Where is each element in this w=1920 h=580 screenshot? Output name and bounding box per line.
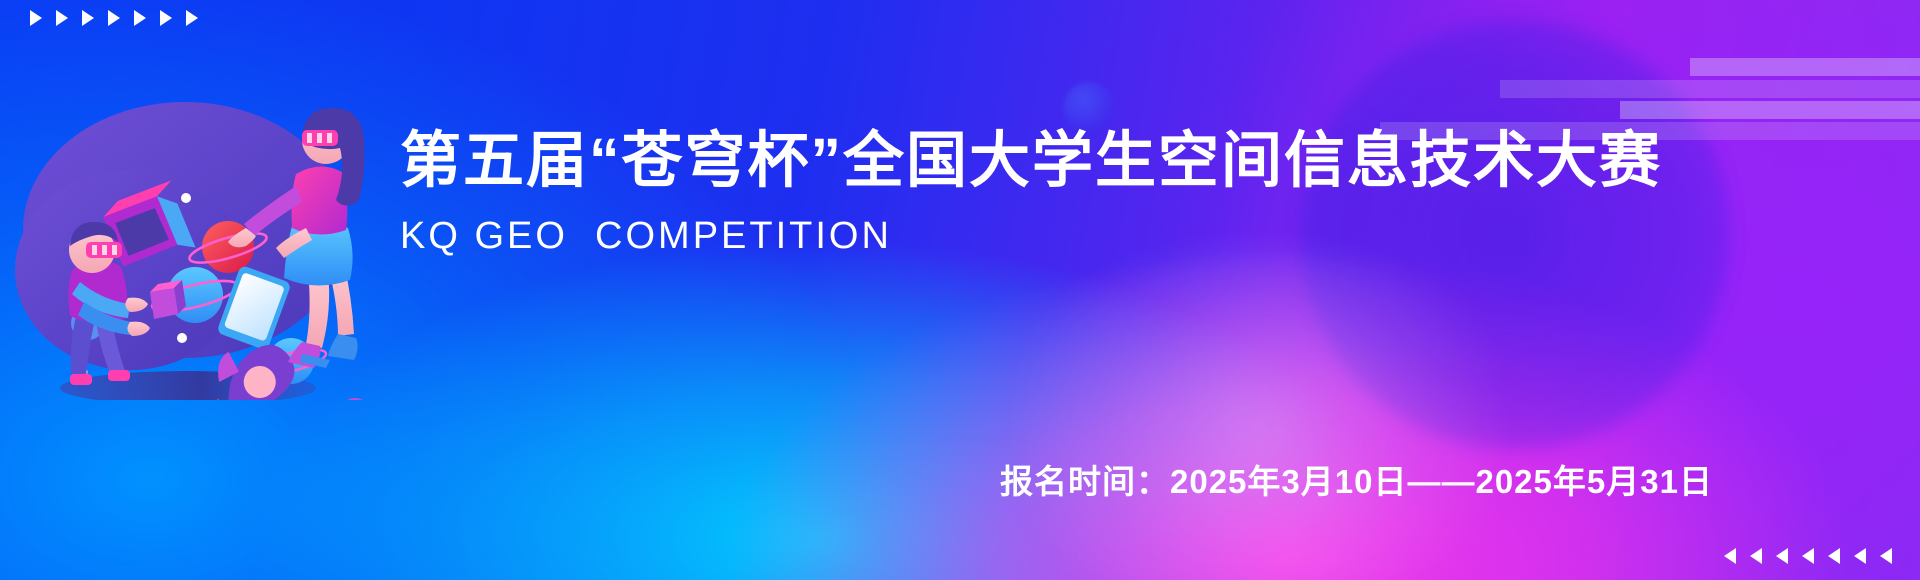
banner-title-cn: 第五届“苍穹杯”全国大学生空间信息技术大赛 (400, 125, 1900, 195)
stripe (1620, 101, 1920, 119)
triangle-left-icon (1854, 548, 1866, 564)
triangle-left-icon (1750, 548, 1762, 564)
triangle-right-icon (82, 10, 94, 26)
triangle-left-icon (1880, 548, 1892, 564)
triangle-right-icon (134, 10, 146, 26)
triangle-right-icon (160, 10, 172, 26)
triangle-right-icon (108, 10, 120, 26)
triangle-right-icon (56, 10, 68, 26)
triangle-left-icon (1802, 548, 1814, 564)
stripe (1500, 80, 1920, 98)
triangle-left-icon (1776, 548, 1788, 564)
triangle-left-icon (1828, 548, 1840, 564)
small-orb (339, 398, 370, 400)
triangle-left-icon (1724, 548, 1736, 564)
bottom-right-arrow-group (1724, 548, 1892, 564)
vr-students-space-illustration (10, 70, 370, 400)
star (181, 193, 191, 203)
banner-title-en: KQ GEO COMPETITION (400, 215, 1900, 258)
stripe-decoration-group (1280, 0, 1920, 140)
star (177, 333, 187, 343)
triangle-right-icon (186, 10, 198, 26)
competition-banner: 第五届“苍穹杯”全国大学生空间信息技术大赛 KQ GEO COMPETITION… (0, 0, 1920, 580)
banner-text-block: 第五届“苍穹杯”全国大学生空间信息技术大赛 KQ GEO COMPETITION (400, 125, 1900, 258)
registration-period-text: 报名时间：2025年3月10日——2025年5月31日 (1000, 455, 1713, 503)
top-left-arrow-group (30, 10, 198, 26)
stripe (1690, 58, 1920, 76)
triangle-right-icon (30, 10, 42, 26)
